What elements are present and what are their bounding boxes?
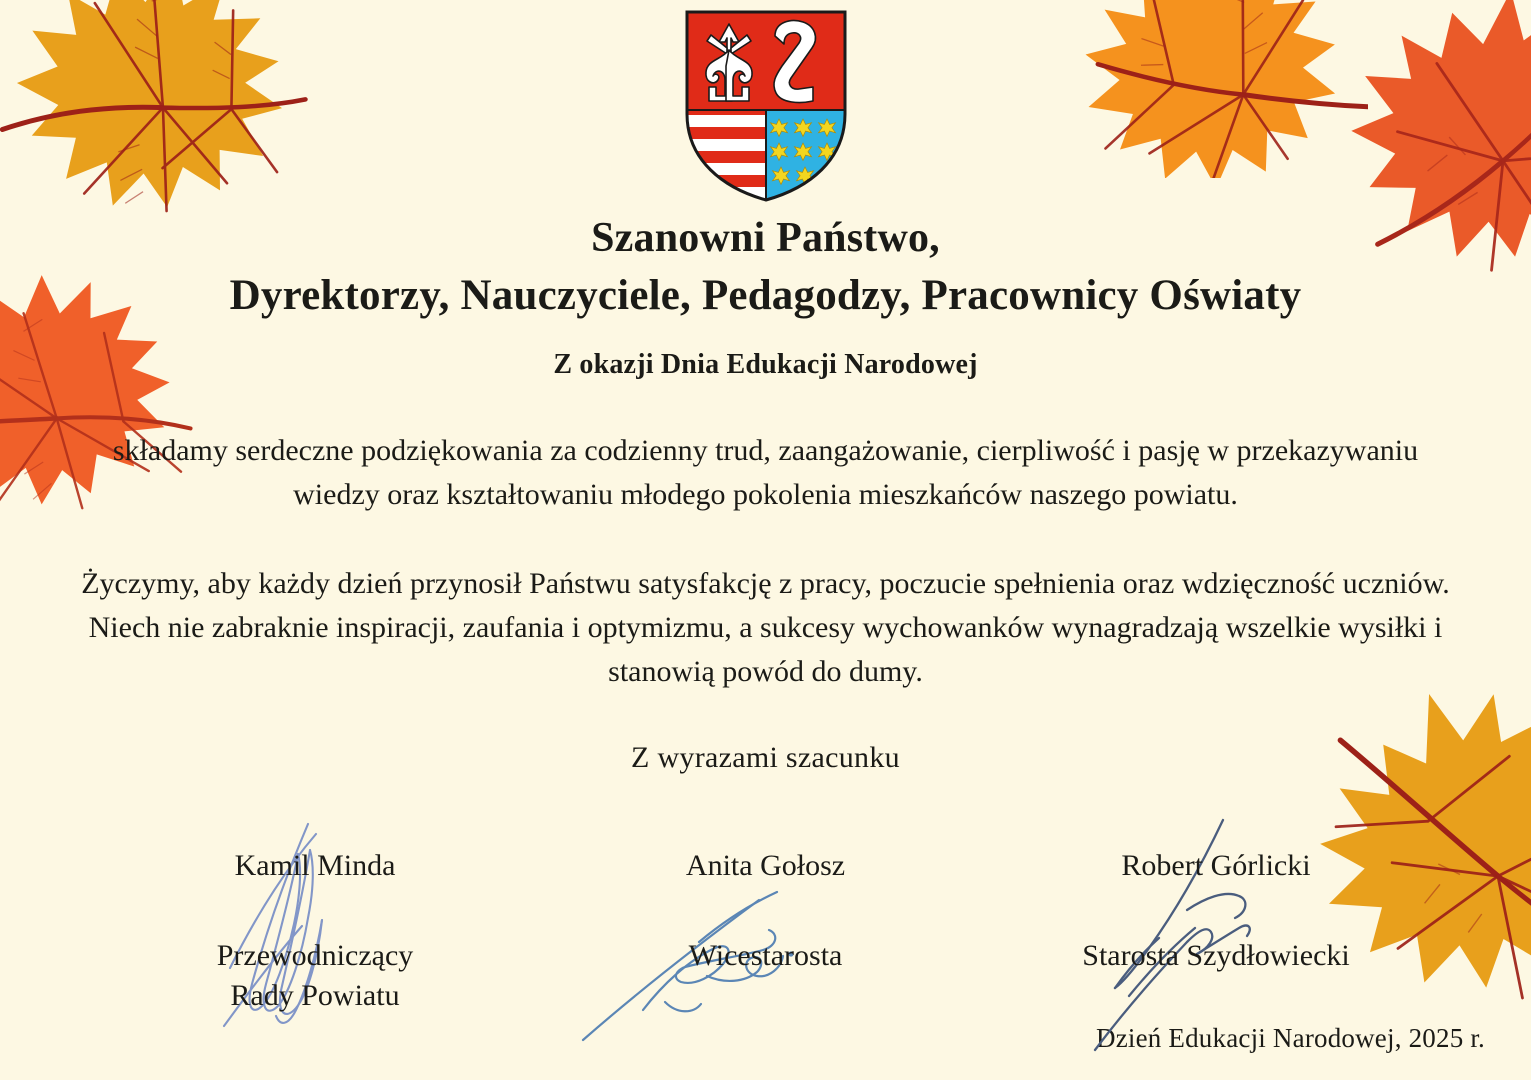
signature-block-starosta: Robert Górlicki Starosta Szydłowiecki (1051, 848, 1381, 1016)
signature-row: Kamil Minda Przewodniczący Rady Powiatu (0, 848, 1531, 1016)
coat-of-arms-icon (683, 8, 849, 204)
greeting-card: Szanowni Państwo, Dyrektorzy, Nauczyciel… (0, 0, 1531, 1080)
signatory-name: Robert Górlicki (1051, 848, 1381, 884)
signatory-role-line-2: Rady Powiatu (150, 976, 480, 1016)
signatory-role-line-1: Wicestarosta (601, 936, 931, 976)
signatory-name: Anita Gołosz (601, 848, 931, 884)
signature-block-chairman: Kamil Minda Przewodniczący Rady Powiatu (150, 848, 480, 1016)
greeting-line-1: Szanowni Państwo, (0, 212, 1531, 266)
occasion-subtitle: Z okazji Dnia Edukacji Narodowej (0, 349, 1531, 381)
signatory-name: Kamil Minda (150, 848, 480, 884)
signatory-role-line-1: Przewodniczący (150, 936, 480, 976)
signatory-role-line-1: Starosta Szydłowiecki (1051, 936, 1381, 976)
greeting-line-2: Dyrektorzy, Nauczyciele, Pedagodzy, Prac… (0, 268, 1531, 323)
date-line: Dzień Edukacji Narodowej, 2025 r. (1096, 1023, 1485, 1054)
signatory-role: Wicestarosta (601, 936, 931, 976)
body-paragraph-1: składamy serdeczne podziękowania za codz… (0, 429, 1531, 518)
leaf-top-right-inner-icon (1058, 0, 1368, 178)
closing-salutation: Z wyrazami szacunku (0, 741, 1531, 775)
signature-block-vice-starosta: Anita Gołosz Wicestarosta (601, 848, 931, 1016)
signatory-role: Starosta Szydłowiecki (1051, 936, 1381, 976)
body-paragraph-2: Życzymy, aby każdy dzień przynosił Państ… (0, 562, 1531, 695)
signatory-role: Przewodniczący Rady Powiatu (150, 936, 480, 1016)
letter-content: Szanowni Państwo, Dyrektorzy, Nauczyciel… (0, 212, 1531, 775)
leaf-top-left-icon (0, 0, 318, 230)
